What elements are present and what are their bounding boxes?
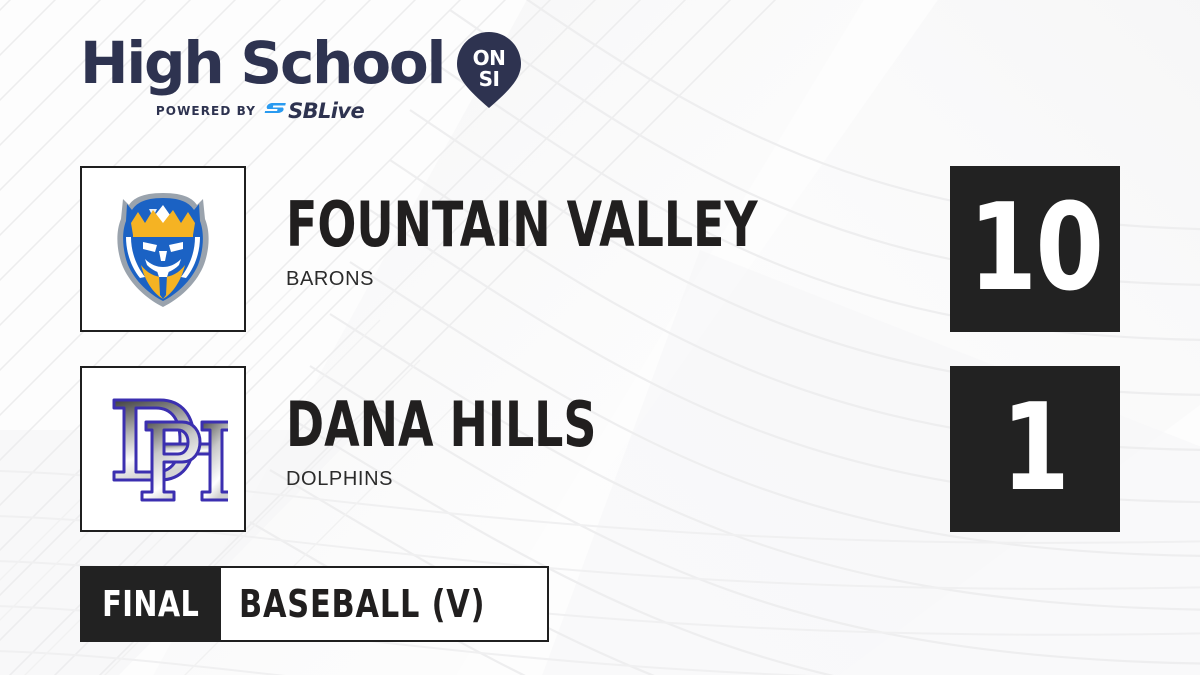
powered-by-label: POWERED BY [156,104,256,118]
team-mascot-name: BARONS [286,268,906,291]
powered-by-row: POWERED BY SBLive [80,102,440,120]
team-logo-box-fountain-valley [80,166,246,332]
team-names-dana-hills: DANA HILLS DOLPHINS [286,396,906,491]
score-box-dana-hills: 1 [950,366,1120,532]
team-mascot-name: DOLPHINS [286,468,906,491]
status-bar: FINAL BASEBALL (V) [80,566,549,642]
team-school-name: FOUNTAIN VALLEY [286,196,745,254]
team-row-home: FOUNTAIN VALLEY BARONS 10 [0,166,1200,334]
score-value: 1 [1002,393,1069,505]
sblive-s-mark-icon [264,102,286,120]
on-si-pin-icon: ON SI [456,30,522,110]
team-row-away: DANA HILLS DOLPHINS 1 [0,366,1200,534]
fountain-valley-barons-logo-icon [93,179,233,319]
sblive-logo: SBLive [264,102,364,120]
game-state-label: FINAL [102,584,199,625]
brand-header: High School ON SI POWERED BY SBLive [80,34,540,134]
team-logo-box-dana-hills [80,366,246,532]
dana-hills-dh-monogram-logo-icon [98,384,228,514]
game-state-badge: FINAL [80,566,221,642]
team-names-fountain-valley: FOUNTAIN VALLEY BARONS [286,196,906,291]
scorecard-graphic: High School ON SI POWERED BY SBLive [0,0,1200,675]
brand-logo-row: High School ON SI [80,34,540,96]
svg-text:SI: SI [479,67,500,91]
score-value: 10 [968,193,1102,305]
sport-label: BASEBALL (V) [239,582,485,626]
brand-wordmark: High School [80,34,444,92]
sport-label-box: BASEBALL (V) [221,566,549,642]
sblive-wordmark: SBLive [288,102,364,120]
score-box-fountain-valley: 10 [950,166,1120,332]
team-school-name: DANA HILLS [286,396,745,454]
